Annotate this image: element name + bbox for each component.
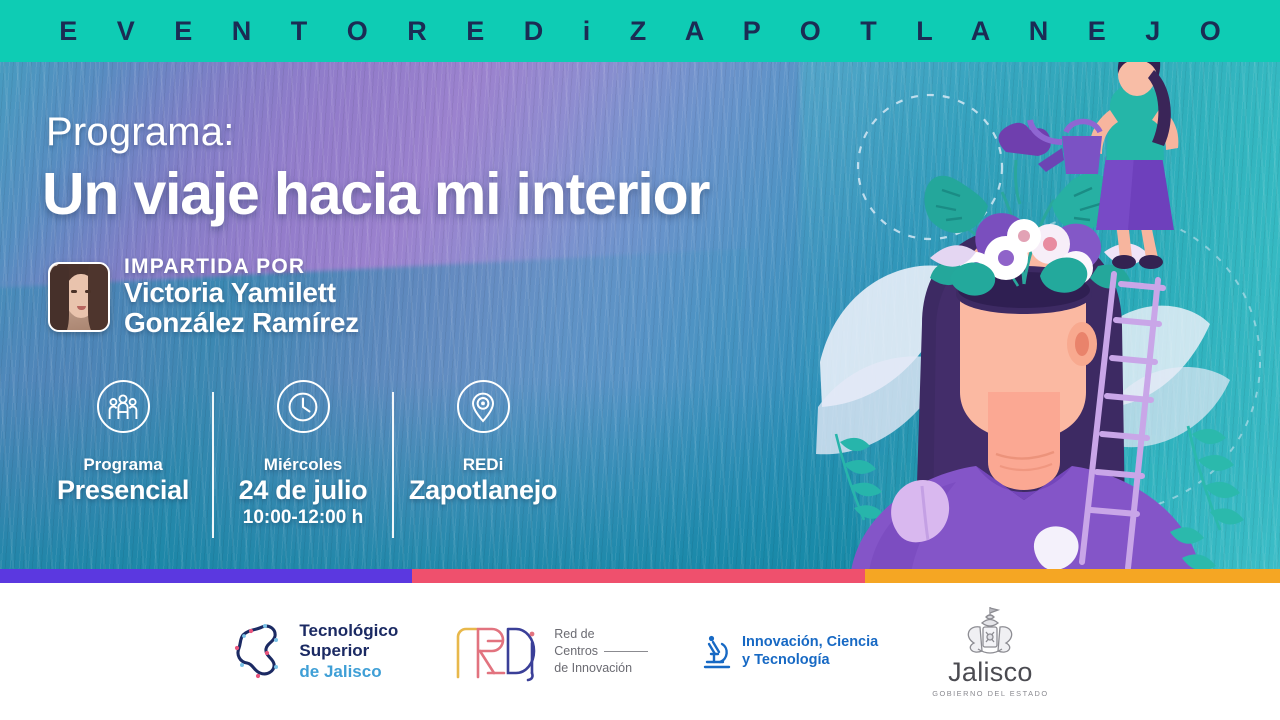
footer-logo-bar: Tecnológico Superior de Jalisco — [0, 583, 1280, 720]
detail-location: REDi Zapotlanejo — [394, 380, 572, 506]
accent-segment-pink — [412, 569, 865, 583]
location-pin-icon — [457, 380, 510, 433]
logo-redi-line2: Centros — [554, 643, 598, 660]
avatar-hair-left — [48, 266, 69, 332]
detail-date: Miércoles 24 de julio 10:00-12:00 h — [214, 380, 392, 531]
clock-icon — [277, 380, 330, 433]
speaker-role-label: IMPARTIDA POR — [124, 256, 359, 278]
program-kicker: Programa: — [46, 110, 235, 155]
logo-tecnologico-superior-jalisco: Tecnológico Superior de Jalisco — [231, 621, 398, 681]
jalisco-coat-of-arms-icon — [962, 605, 1018, 657]
speaker-name-line1: Victoria Yamilett — [124, 278, 359, 308]
logo-jalisco-name: Jalisco — [932, 659, 1048, 686]
logo-redi-line3-row: de Innovación — [554, 660, 648, 677]
redi-wordmark-icon — [452, 621, 544, 683]
microscope-icon — [702, 634, 732, 670]
logo-innovacion-ciencia-tecnologia: Innovación, Ciencia y Tecnología — [702, 634, 878, 670]
logo-tsj-line3: de Jalisco — [299, 662, 398, 682]
event-header-bar: E V E N T O R E D i Z A P O T L A N E J … — [0, 0, 1280, 62]
avatar-hair-right — [88, 264, 110, 332]
detail-time-value: 10:00-12:00 h — [214, 506, 392, 531]
hero-content: Programa: Un viaje hacia mi interior IMP… — [0, 62, 830, 579]
logo-redi-line3: de Innovación — [554, 660, 632, 677]
logo-tsj-text: Tecnológico Superior de Jalisco — [299, 621, 398, 681]
detail-date-value: 24 de julio — [214, 475, 392, 507]
logo-redi-text: Red de Centros de Innovación — [554, 626, 648, 676]
logo-redi-line2-row: Centros — [554, 643, 648, 660]
logo-redi-line1: Red de — [554, 626, 594, 643]
accent-color-bar — [0, 569, 1280, 583]
speaker-avatar — [48, 262, 110, 332]
event-poster: E V E N T O R E D i Z A P O T L A N E J … — [0, 0, 1280, 720]
speaker-text: IMPARTIDA POR Victoria Yamilett González… — [124, 256, 359, 339]
logo-redi-rule — [604, 651, 648, 652]
avatar-eye-right — [85, 290, 91, 293]
event-header-title: E V E N T O R E D i Z A P O T L A N E J … — [43, 16, 1237, 47]
accent-segment-purple — [0, 569, 412, 583]
jalisco-map-dotted-icon — [231, 621, 289, 681]
event-details-row: Programa Presencial Miércoles 24 de juli… — [34, 380, 572, 538]
logo-tsj-line1: Tecnológico — [299, 621, 398, 641]
detail-modality-value: Presencial — [34, 475, 212, 507]
detail-location-label: REDi — [394, 455, 572, 475]
accent-segment-orange — [865, 569, 1280, 583]
speaker-block: IMPARTIDA POR Victoria Yamilett González… — [48, 256, 359, 339]
detail-modality: Programa Presencial — [34, 380, 212, 506]
logo-redi: Red de Centros de Innovación — [452, 621, 648, 683]
avatar-eye-left — [71, 290, 77, 293]
detail-date-label: Miércoles — [214, 455, 392, 475]
hero-illustration — [810, 62, 1280, 579]
logo-redi-line1-row: Red de — [554, 626, 648, 643]
logo-ict-line2: y Tecnología — [742, 652, 878, 670]
detail-modality-label: Programa — [34, 455, 212, 475]
hero-panel: Programa: Un viaje hacia mi interior IMP… — [0, 62, 1280, 579]
logo-jalisco-subtitle: GOBIERNO DEL ESTADO — [932, 689, 1048, 698]
logo-tsj-line2: Superior — [299, 641, 398, 661]
logo-ict-line1: Innovación, Ciencia — [742, 634, 878, 652]
logo-jalisco-gobierno: Jalisco GOBIERNO DEL ESTADO — [932, 605, 1048, 698]
people-icon — [97, 380, 150, 433]
detail-location-value: Zapotlanejo — [394, 475, 572, 507]
program-title: Un viaje hacia mi interior — [42, 160, 709, 228]
speaker-name-line2: González Ramírez — [124, 308, 359, 338]
logo-ict-text: Innovación, Ciencia y Tecnología — [742, 634, 878, 669]
